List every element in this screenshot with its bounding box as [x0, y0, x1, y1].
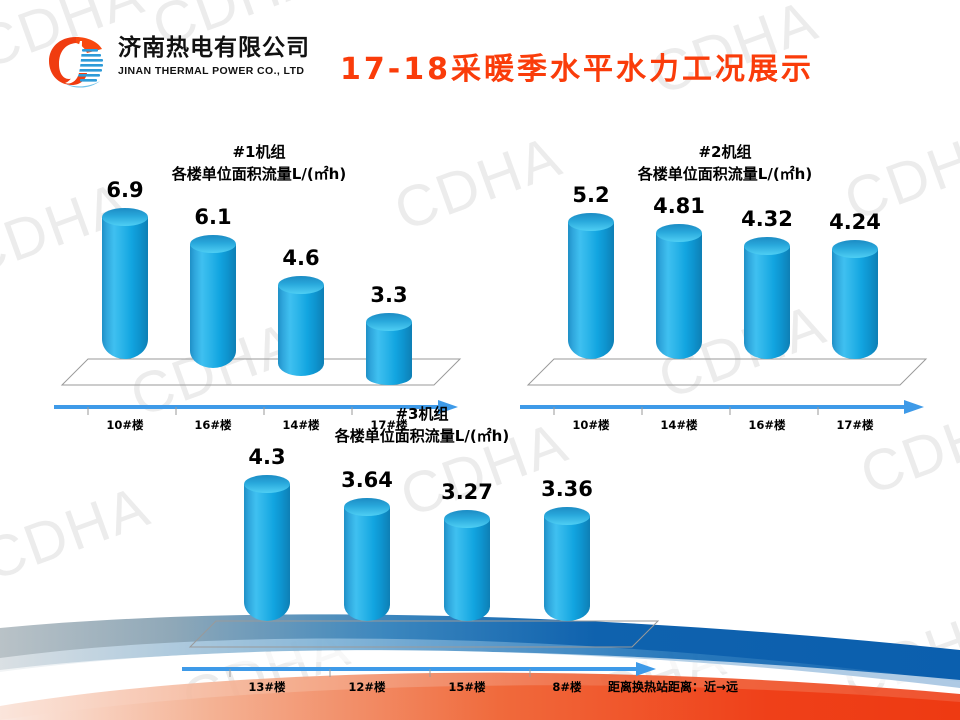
- bar-cylinder-body: [278, 285, 324, 376]
- page-title: 17-18采暖季水平水力工况展示: [340, 44, 814, 88]
- bar-value-label: 4.24: [810, 210, 900, 234]
- bar-value-label: 5.2: [546, 183, 636, 207]
- bar-column: [656, 224, 702, 359]
- bar-cylinder-body: [656, 233, 702, 359]
- bar-cylinder-body: [444, 519, 490, 621]
- chart-header: #3机组各楼单位面积流量L/(㎡h): [172, 404, 672, 447]
- chart-title: #3机组: [172, 404, 672, 425]
- bar-column: [544, 507, 590, 621]
- bar-cylinder-body: [366, 322, 412, 385]
- chart-3: #3机组各楼单位面积流量L/(㎡h)4.313#楼3.6412#楼3.2715#…: [172, 404, 672, 691]
- slide-header: 济南热电有限公司 JINAN THERMAL POWER CO., LTD 17…: [0, 0, 960, 112]
- bar-cylinder-body: [544, 516, 590, 621]
- bar-value-label: 3.27: [422, 480, 512, 504]
- category-label: 17#楼: [804, 417, 906, 433]
- bar-cylinder-body: [190, 244, 236, 368]
- bar-cylinder-body: [102, 217, 148, 359]
- chart-plot-area: 6.910#楼6.116#楼4.614#楼3.317#楼: [44, 185, 474, 429]
- category-label: 10#楼: [74, 417, 176, 433]
- bar-cylinder-cap: [102, 208, 148, 226]
- bar-cylinder-body: [244, 484, 290, 621]
- bar-cylinder-body: [744, 246, 790, 359]
- bar-cylinder-cap: [244, 475, 290, 493]
- bar-value-label: 6.1: [168, 205, 258, 229]
- bar-cylinder-cap: [366, 313, 412, 331]
- bar-value-label: 6.9: [80, 178, 170, 202]
- bar-value-label: 4.81: [634, 194, 724, 218]
- bar-cylinder-cap: [656, 224, 702, 242]
- bar-column: [244, 475, 290, 621]
- bar-value-label: 4.3: [222, 445, 312, 469]
- bar-cylinder-cap: [568, 213, 614, 231]
- category-label: 15#楼: [416, 679, 518, 695]
- chart-subtitle: 各楼单位面积流量L/(㎡h): [510, 163, 940, 185]
- bar-cylinder-cap: [278, 276, 324, 294]
- chart-2: #2机组各楼单位面积流量L/(㎡h)5.210#楼4.8114#楼4.3216#…: [510, 142, 940, 429]
- bar-cylinder-cap: [344, 498, 390, 516]
- bar-column: [344, 498, 390, 621]
- brand-name-cn: 济南热电有限公司: [118, 33, 318, 63]
- bar-cylinder-cap: [190, 235, 236, 253]
- brand-logo: 济南热电有限公司 JINAN THERMAL POWER CO., LTD: [46, 33, 318, 95]
- bar-cylinder-body: [568, 222, 614, 359]
- bar-column: [278, 276, 324, 376]
- bar-value-label: 3.36: [522, 477, 612, 501]
- bar-column: [444, 510, 490, 621]
- chart-subtitle: 各楼单位面积流量L/(㎡h): [172, 425, 672, 447]
- slide-canvas: CDHA CDHA CDHA CDHA CDHA CDHA CDHA CDHA …: [0, 0, 960, 720]
- bar-cylinder-cap: [444, 510, 490, 528]
- chart-header: #2机组各楼单位面积流量L/(㎡h): [510, 142, 940, 185]
- watermark-text: CDHA: [0, 473, 159, 595]
- bar-column: [366, 313, 412, 385]
- bar-column: [190, 235, 236, 368]
- category-label: 12#楼: [316, 679, 418, 695]
- category-label: 8#楼: [516, 679, 618, 695]
- chart-plot-area: 4.313#楼3.6412#楼3.2715#楼3.368#楼距离换热站距离：近→…: [172, 447, 672, 691]
- bar-value-label: 3.64: [322, 468, 412, 492]
- brand-wordmark: 济南热电有限公司 JINAN THERMAL POWER CO., LTD: [118, 33, 318, 79]
- bar-column: [568, 213, 614, 359]
- bar-cylinder-cap: [832, 240, 878, 258]
- bar-column: [832, 240, 878, 359]
- brand-name-en: JINAN THERMAL POWER CO., LTD: [118, 63, 318, 79]
- chart-title: #2机组: [510, 142, 940, 163]
- bar-cylinder-cap: [744, 237, 790, 255]
- chart-plot-area: 5.210#楼4.8114#楼4.3216#楼4.2417#楼: [510, 185, 940, 429]
- bar-value-label: 4.6: [256, 246, 346, 270]
- chart-1: #1机组各楼单位面积流量L/(㎡h)6.910#楼6.116#楼4.614#楼3…: [44, 142, 474, 429]
- bar-cylinder-cap: [544, 507, 590, 525]
- jinan-thermal-power-logo-icon: [46, 35, 110, 89]
- chart-title: #1机组: [44, 142, 474, 163]
- axis-direction-note: 距离换热站距离：近→远: [608, 678, 738, 695]
- category-label: 16#楼: [716, 417, 818, 433]
- bar-value-label: 3.3: [344, 283, 434, 307]
- category-label: 13#楼: [216, 679, 318, 695]
- bar-column: [744, 237, 790, 359]
- bar-value-label: 4.32: [722, 207, 812, 231]
- bar-cylinder-body: [832, 249, 878, 359]
- bar-cylinder-body: [344, 507, 390, 621]
- bar-column: [102, 208, 148, 359]
